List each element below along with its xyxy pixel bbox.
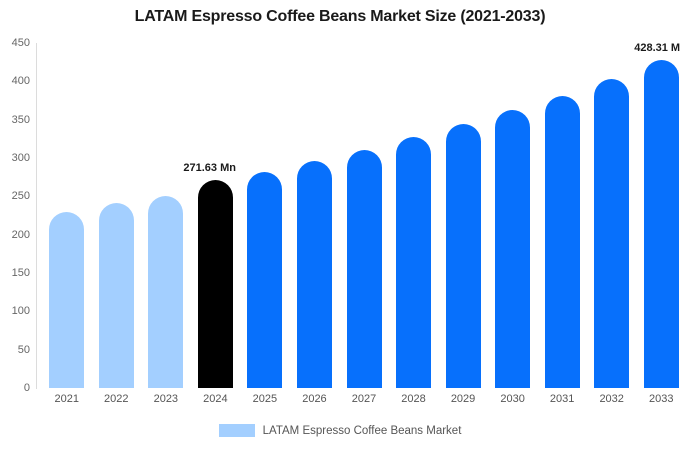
- x-axis-tick-label: 2025: [240, 393, 290, 405]
- x-axis: 2021202220232024202520262027202820292030…: [36, 393, 680, 411]
- x-axis-tick-label: 2027: [339, 393, 389, 405]
- bar-2023[interactable]: [148, 196, 183, 388]
- chart-title: LATAM Espresso Coffee Beans Market Size …: [0, 8, 680, 26]
- y-axis-tick-label: 0: [0, 382, 30, 394]
- y-axis-tick-label: 100: [0, 305, 30, 317]
- bar-2027[interactable]: [347, 150, 382, 388]
- bar-group: [36, 43, 680, 388]
- bar-2021[interactable]: [49, 212, 84, 388]
- x-axis-tick-label: 2031: [537, 393, 587, 405]
- x-axis-tick-label: 2030: [488, 393, 538, 405]
- bar-2022[interactable]: [99, 203, 134, 388]
- y-axis-tick-label: 150: [0, 267, 30, 279]
- bar-2028[interactable]: [396, 137, 431, 388]
- bar-2032[interactable]: [594, 79, 629, 388]
- bar-2031[interactable]: [545, 96, 580, 388]
- data-label-2033: 428.31 Mn: [634, 42, 680, 54]
- x-axis-tick-label: 2022: [92, 393, 142, 405]
- data-label-2024: 271.63 Mn: [183, 162, 236, 174]
- x-axis-tick-label: 2026: [290, 393, 340, 405]
- legend-swatch: [219, 424, 255, 437]
- chart-container: LATAM Espresso Coffee Beans Market Size …: [0, 0, 680, 450]
- y-axis-tick-label: 200: [0, 229, 30, 241]
- bar-2033[interactable]: [644, 60, 679, 388]
- y-axis-tick-label: 300: [0, 152, 30, 164]
- x-axis-tick-label: 2032: [587, 393, 637, 405]
- x-axis-tick-label: 2023: [141, 393, 191, 405]
- bar-2024[interactable]: [198, 180, 233, 388]
- plot-area: [36, 43, 680, 388]
- bar-2026[interactable]: [297, 161, 332, 388]
- legend-label[interactable]: LATAM Espresso Coffee Beans Market: [263, 425, 462, 437]
- bar-2029[interactable]: [446, 124, 481, 388]
- chart-legend: LATAM Espresso Coffee Beans Market: [0, 424, 680, 437]
- y-axis-tick-label: 450: [0, 37, 30, 49]
- x-axis-tick-label: 2028: [389, 393, 439, 405]
- y-axis-tick-label: 400: [0, 75, 30, 87]
- x-axis-tick-label: 2021: [42, 393, 92, 405]
- y-axis-tick-label: 250: [0, 190, 30, 202]
- x-axis-tick-label: 2033: [636, 393, 680, 405]
- bar-2030[interactable]: [495, 110, 530, 388]
- y-axis: 050100150200250300350400450: [0, 43, 30, 388]
- y-axis-tick-label: 50: [0, 344, 30, 356]
- x-axis-tick-label: 2024: [191, 393, 241, 405]
- y-axis-tick-label: 350: [0, 114, 30, 126]
- x-axis-tick-label: 2029: [438, 393, 488, 405]
- bar-2025[interactable]: [247, 172, 282, 388]
